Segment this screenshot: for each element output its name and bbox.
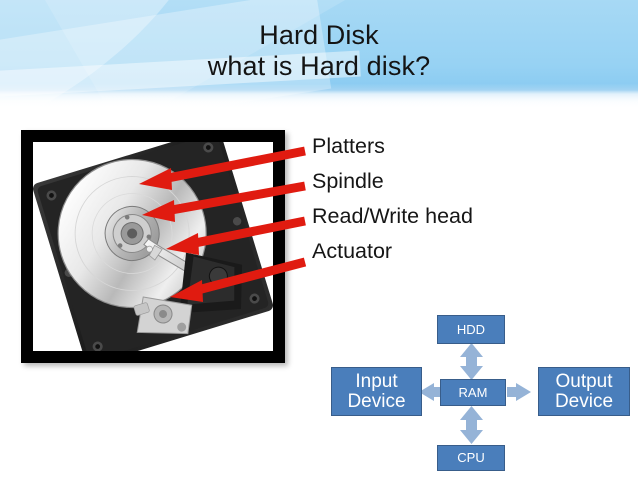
diagram-box-input-label-1: Input bbox=[347, 372, 405, 392]
connector-ram-output bbox=[507, 383, 531, 401]
slide-canvas: Hard Disk what is Hard disk? bbox=[0, 0, 638, 479]
diagram-box-cpu[interactable]: CPU bbox=[437, 445, 505, 471]
diagram-box-cpu-label: CPU bbox=[457, 451, 484, 465]
callout-label-read-write-head: Read/Write head bbox=[312, 206, 473, 241]
diagram-box-hdd[interactable]: HDD bbox=[437, 315, 505, 344]
diagram-box-ram[interactable]: RAM bbox=[440, 379, 506, 406]
diagram-box-ram-label: RAM bbox=[459, 386, 488, 400]
callout-label-actuator: Actuator bbox=[312, 241, 473, 276]
connector-ram-cpu bbox=[460, 406, 483, 444]
diagram-box-output-label-1: Output bbox=[555, 372, 613, 392]
callout-label-list: Platters Spindle Read/Write head Actuato… bbox=[312, 136, 473, 276]
diagram-box-output-device[interactable]: Output Device bbox=[538, 367, 630, 416]
diagram-box-output-label-2: Device bbox=[555, 392, 613, 412]
connector-ram-hdd bbox=[460, 343, 483, 380]
connector-ram-input bbox=[419, 383, 442, 401]
callout-label-spindle: Spindle bbox=[312, 171, 473, 206]
diagram-box-input-label-2: Device bbox=[347, 392, 405, 412]
diagram-box-input-device[interactable]: Input Device bbox=[331, 367, 422, 416]
callout-label-platters: Platters bbox=[312, 136, 473, 171]
diagram-box-hdd-label: HDD bbox=[457, 323, 485, 337]
